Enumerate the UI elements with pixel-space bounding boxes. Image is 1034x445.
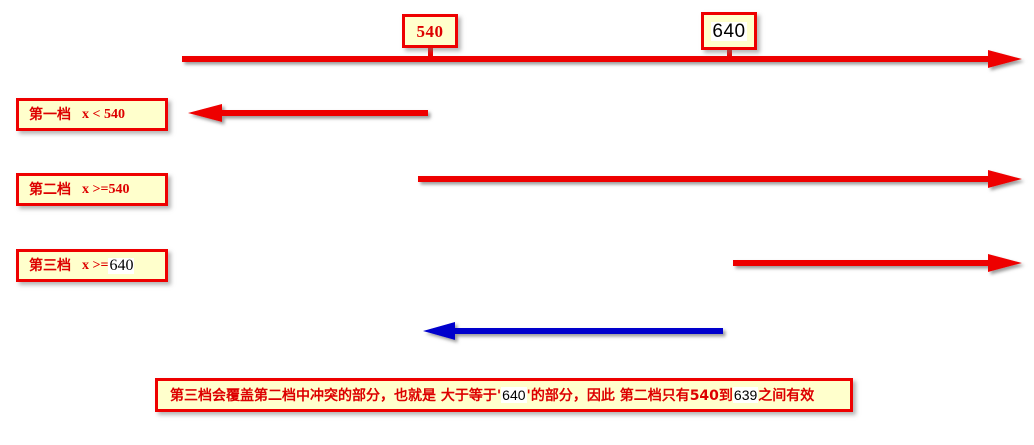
value-chip-540[interactable]: 540 [402, 14, 458, 48]
tier-3-arrow-right [733, 254, 1022, 276]
tier-3-name: 第三档 [29, 259, 71, 273]
tier-1-arrow-left [188, 104, 428, 126]
main-number-line-arrow [182, 50, 1022, 72]
tier-1-label-box[interactable]: 第一档 x < 540 [16, 98, 168, 131]
caption-segment-3: 之间有效 [758, 388, 814, 404]
tier-2-arrow-right [418, 170, 1022, 192]
caption-segment-2: '的部分，因此 第二档只有540到 [527, 388, 733, 404]
tier-2-name: 第二档 [29, 183, 71, 197]
caption-edit-value-639[interactable]: 639 [733, 387, 758, 403]
tier-3-label-box[interactable]: 第三档 x >=640 [16, 249, 168, 282]
value-chip-540-label: 540 [417, 23, 444, 40]
tier-2-condition: x >=540 [82, 183, 129, 197]
tier-3-condition-prefix: x >= [82, 259, 108, 273]
tier-1-condition: x < 540 [82, 108, 125, 122]
value-chip-640[interactable]: 640 [701, 12, 757, 50]
tier-1-name: 第一档 [29, 108, 71, 122]
caption-box: 第三档会覆盖第二档中冲突的部分，也就是 大于等于'640'的部分，因此 第二档只… [155, 378, 853, 412]
caption-text: 第三档会覆盖第二档中冲突的部分，也就是 大于等于'640'的部分，因此 第二档只… [170, 388, 814, 403]
value-chip-640-label[interactable]: 640 [711, 22, 746, 41]
tier-2-label-box[interactable]: 第二档 x >=540 [16, 173, 168, 206]
caption-edit-value-640[interactable]: 640 [501, 387, 526, 403]
caption-segment-1: 第三档会覆盖第二档中冲突的部分，也就是 大于等于' [170, 388, 501, 404]
overlap-indicator-arrow [423, 322, 723, 344]
tier-3-condition-value[interactable]: 640 [108, 258, 134, 274]
